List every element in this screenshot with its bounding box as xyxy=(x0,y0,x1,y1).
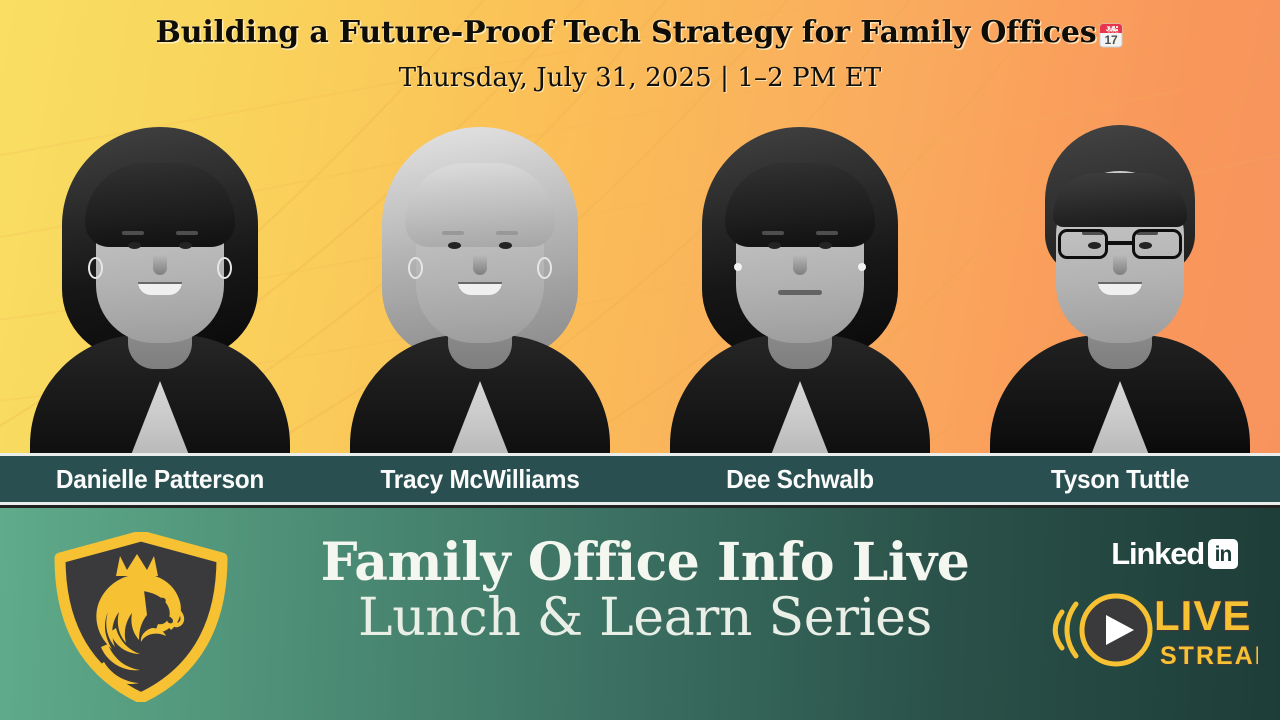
linkedin-wordmark: Linked xyxy=(1111,536,1204,572)
speaker-name-band: Danielle Patterson Tracy McWilliams Dee … xyxy=(0,453,1280,505)
event-title-text: Building a Future-Proof Tech Strategy fo… xyxy=(156,15,1097,50)
top-gradient-background: Building a Future-Proof Tech Strategy fo… xyxy=(0,0,1280,455)
event-datetime: Thursday, July 31, 2025 | 1–2 PM ET xyxy=(0,63,1280,93)
linkedin-live-badge: Linked in LIVE STREAM xyxy=(1040,536,1258,676)
speaker-name: Tyson Tuttle xyxy=(970,464,1271,495)
speaker-name: Tracy McWilliams xyxy=(330,464,631,495)
brand-title-block: Family Office Info Live Lunch & Learn Se… xyxy=(300,534,990,647)
brand-title-line1: Family Office Info Live xyxy=(300,534,990,591)
lion-shield-logo xyxy=(46,532,236,702)
speaker-name: Dee Schwalb xyxy=(650,464,951,495)
speaker-photo xyxy=(960,112,1280,455)
linkedin-in-icon: in xyxy=(1208,539,1238,569)
brand-footer-band: Family Office Info Live Lunch & Learn Se… xyxy=(0,508,1280,720)
brand-title-line2: Lunch & Learn Series xyxy=(300,589,990,647)
speaker-photo xyxy=(0,112,320,455)
speaker-photo xyxy=(320,112,640,455)
portrait-image xyxy=(665,112,935,455)
portrait-image xyxy=(345,112,615,455)
linkedin-logo: Linked in xyxy=(1111,536,1238,572)
calendar-icon: JUL17 xyxy=(1098,21,1124,56)
webinar-promo-poster: Building a Future-Proof Tech Strategy fo… xyxy=(0,0,1280,720)
svg-text:LIVE: LIVE xyxy=(1154,592,1251,639)
svg-text:17: 17 xyxy=(1105,33,1118,47)
speaker-photo-row xyxy=(0,112,1280,455)
portrait-image xyxy=(985,112,1255,455)
speaker-name: Danielle Patterson xyxy=(10,464,311,495)
event-title: Building a Future-Proof Tech Strategy fo… xyxy=(0,17,1280,56)
headline-block: Building a Future-Proof Tech Strategy fo… xyxy=(0,0,1280,93)
live-stream-graphic: LIVE STREAM xyxy=(1040,582,1258,678)
speaker-photo xyxy=(640,112,960,455)
svg-text:STREAM: STREAM xyxy=(1160,642,1258,670)
portrait-image xyxy=(25,112,295,455)
